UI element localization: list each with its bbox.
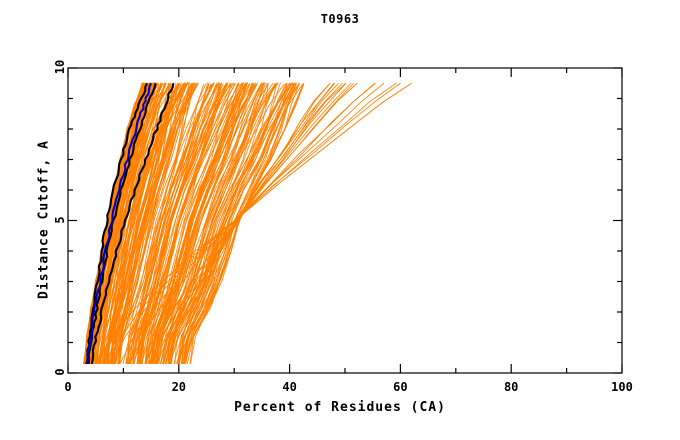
x-tick-label: 20 — [172, 380, 186, 394]
x-tick-label: 80 — [504, 380, 518, 394]
plot-canvas — [0, 0, 680, 440]
bulk-curve-group — [83, 82, 411, 364]
x-tick-label: 40 — [282, 380, 296, 394]
y-tick-label: 5 — [53, 207, 67, 233]
x-tick-label: 100 — [611, 380, 633, 394]
y-tick-label: 10 — [53, 54, 67, 80]
x-tick-label: 60 — [393, 380, 407, 394]
y-tick-label: 0 — [53, 359, 67, 385]
chart-page: T0963 Distance Cutoff, A Percent of Resi… — [0, 0, 680, 440]
